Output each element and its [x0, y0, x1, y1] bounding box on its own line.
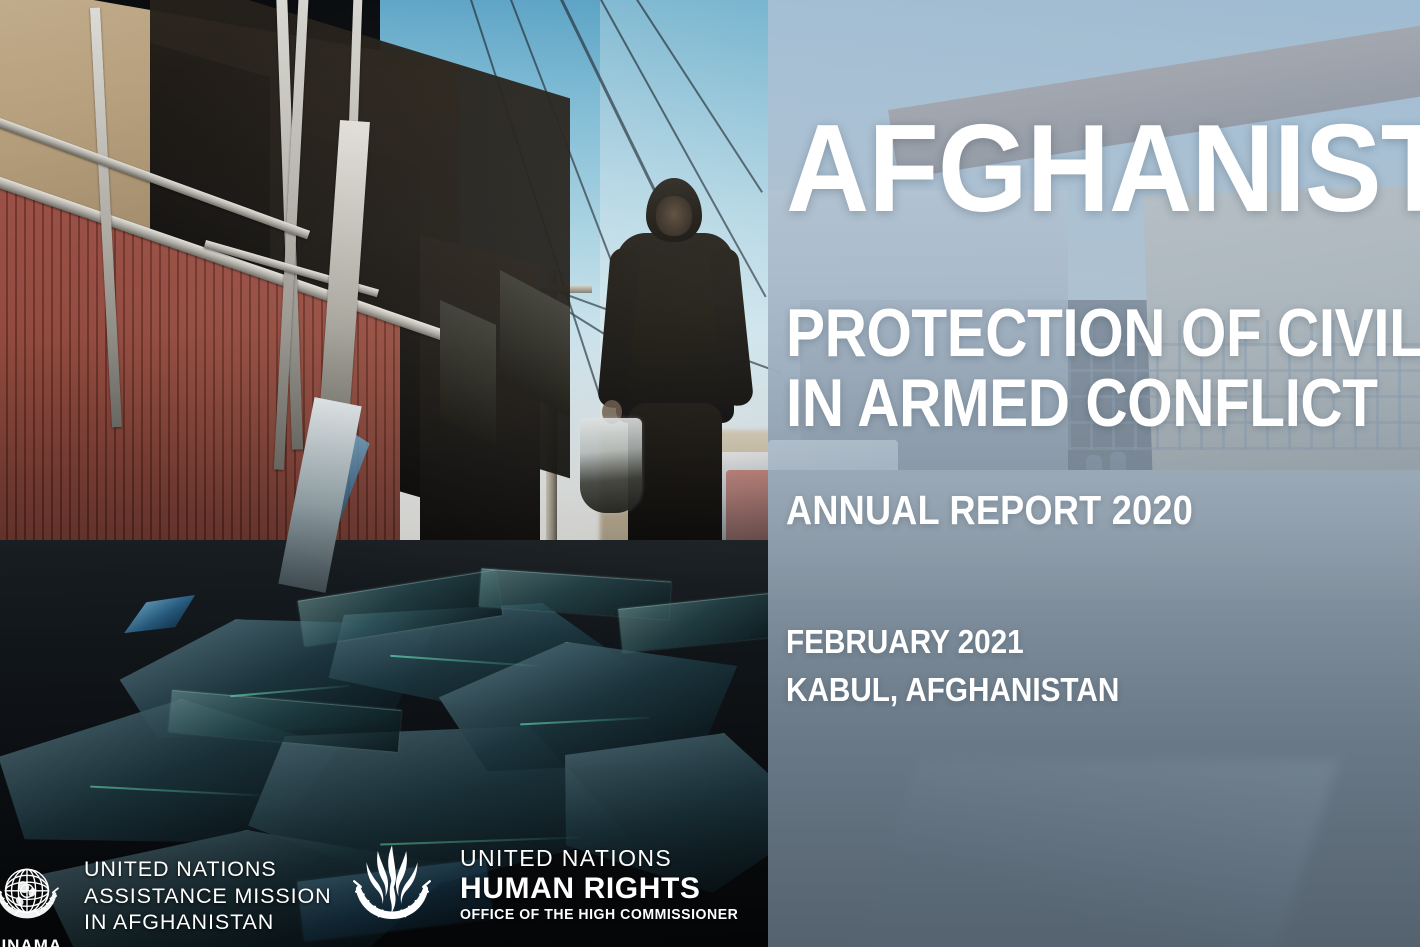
- unama-wordmark: UNITED NATIONS ASSISTANCE MISSION IN AFG…: [84, 856, 332, 935]
- logo-bar: UNAMA UNITED NATIONS ASSISTANCE MISSION …: [0, 797, 768, 947]
- unama-acronym: UNAMA: [0, 936, 74, 947]
- ohchr-line-3: OFFICE OF THE HIGH COMMISSIONER: [460, 906, 738, 925]
- boy-face: [656, 196, 692, 236]
- boy-legs: [628, 403, 722, 563]
- page-subtitle: PROTECTION OF CIVILIANS IN ARMED CONFLIC…: [786, 298, 1420, 438]
- plastic-bag: [580, 418, 642, 513]
- publication-meta: FEBRUARY 2021 KABUL, AFGHANISTAN: [786, 618, 1119, 714]
- unama-logo: UNAMA UNITED NATIONS ASSISTANCE MISSION …: [0, 853, 332, 939]
- publication-location: KABUL, AFGHANISTAN: [786, 666, 1119, 714]
- page-title: AFGHANISTAN: [786, 112, 1420, 226]
- title-panel: AFGHANISTAN PROTECTION OF CIVILIANS IN A…: [768, 0, 1420, 947]
- report-edition: ANNUAL REPORT 2020: [786, 487, 1193, 534]
- ohchr-line-1: UNITED NATIONS: [460, 845, 747, 872]
- unama-line-2: ASSISTANCE MISSION: [84, 883, 332, 909]
- un-globe-laurel-icon: UNAMA: [0, 853, 70, 939]
- report-cover: AFGHANISTAN PROTECTION OF CIVILIANS IN A…: [0, 0, 1420, 947]
- publication-date: FEBRUARY 2021: [786, 618, 1119, 666]
- ohchr-wordmark: UNITED NATIONS HUMAN RIGHTS OFFICE OF TH…: [460, 845, 747, 925]
- cover-text-block: AFGHANISTAN PROTECTION OF CIVILIANS IN A…: [768, 0, 1420, 947]
- subtitle-line-2: IN ARMED CONFLICT: [786, 368, 1420, 438]
- shop-awning: [440, 300, 496, 445]
- unama-line-3: IN AFGHANISTAN: [84, 909, 332, 935]
- unama-line-1: UNITED NATIONS: [84, 856, 332, 882]
- ohchr-line-2: HUMAN RIGHTS: [460, 872, 747, 906]
- boy-walking: [588, 178, 758, 593]
- ohchr-logo: UNITED NATIONS HUMAN RIGHTS OFFICE OF TH…: [340, 837, 747, 933]
- un-human-rights-flame-laurel-icon: [340, 837, 444, 933]
- subtitle-line-1: PROTECTION OF CIVILIANS: [786, 295, 1420, 371]
